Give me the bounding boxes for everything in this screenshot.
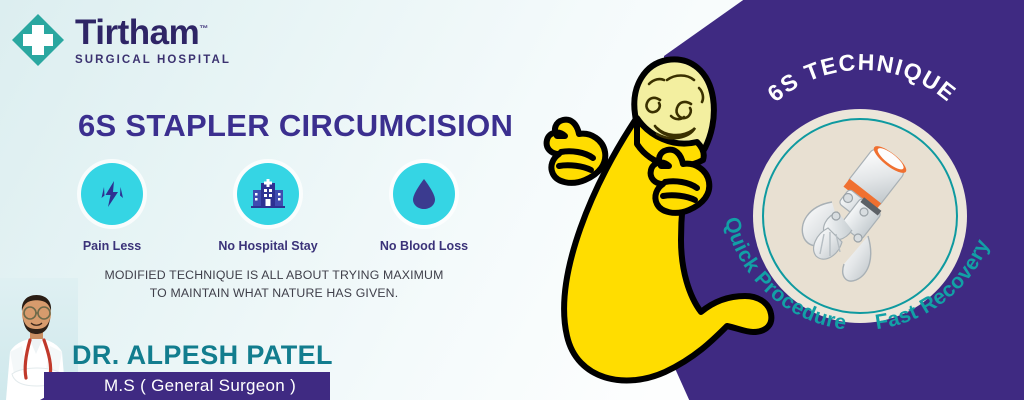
feature-label: No Blood Loss xyxy=(380,239,468,253)
lightning-bolt-icon xyxy=(81,163,143,225)
feature-item-pain-less: Pain Less xyxy=(76,163,148,253)
surgical-stapler-device xyxy=(790,140,940,290)
description-line-2: TO MAINTAIN WHAT NATURE HAS GIVEN. xyxy=(64,284,484,302)
doctor-degree-bar: M.S ( General Surgeon ) xyxy=(44,372,330,400)
banana-thumbs-up-mascot xyxy=(505,40,805,400)
feature-list: Pain Less xyxy=(76,163,460,253)
promo-banner: Tirtham™ SURGICAL HOSPITAL 6S STAPLER CI… xyxy=(0,0,1024,400)
feature-label: No Hospital Stay xyxy=(218,239,317,253)
brand-name: Tirtham™ xyxy=(75,15,231,50)
brand-subtitle: SURGICAL HOSPITAL xyxy=(75,55,231,67)
description-line-1: MODIFIED TECHNIQUE IS ALL ABOUT TRYING M… xyxy=(64,266,484,284)
doctor-name: DR. ALPESH PATEL xyxy=(72,340,333,371)
brand-logo[interactable]: Tirtham™ SURGICAL HOSPITAL xyxy=(10,12,231,68)
diamond-cross-icon xyxy=(10,12,66,68)
description-text: MODIFIED TECHNIQUE IS ALL ABOUT TRYING M… xyxy=(64,266,484,303)
feature-item-no-blood-loss: No Blood Loss xyxy=(388,163,460,253)
trademark-symbol: ™ xyxy=(199,24,208,34)
feature-label: Pain Less xyxy=(83,239,141,253)
feature-item-no-hospital-stay: No Hospital Stay xyxy=(232,163,304,253)
blood-drop-icon xyxy=(393,163,455,225)
doctor-degree: M.S ( General Surgeon ) xyxy=(44,376,330,396)
page-title: 6S STAPLER CIRCUMCISION xyxy=(78,108,513,144)
hospital-building-icon xyxy=(237,163,299,225)
